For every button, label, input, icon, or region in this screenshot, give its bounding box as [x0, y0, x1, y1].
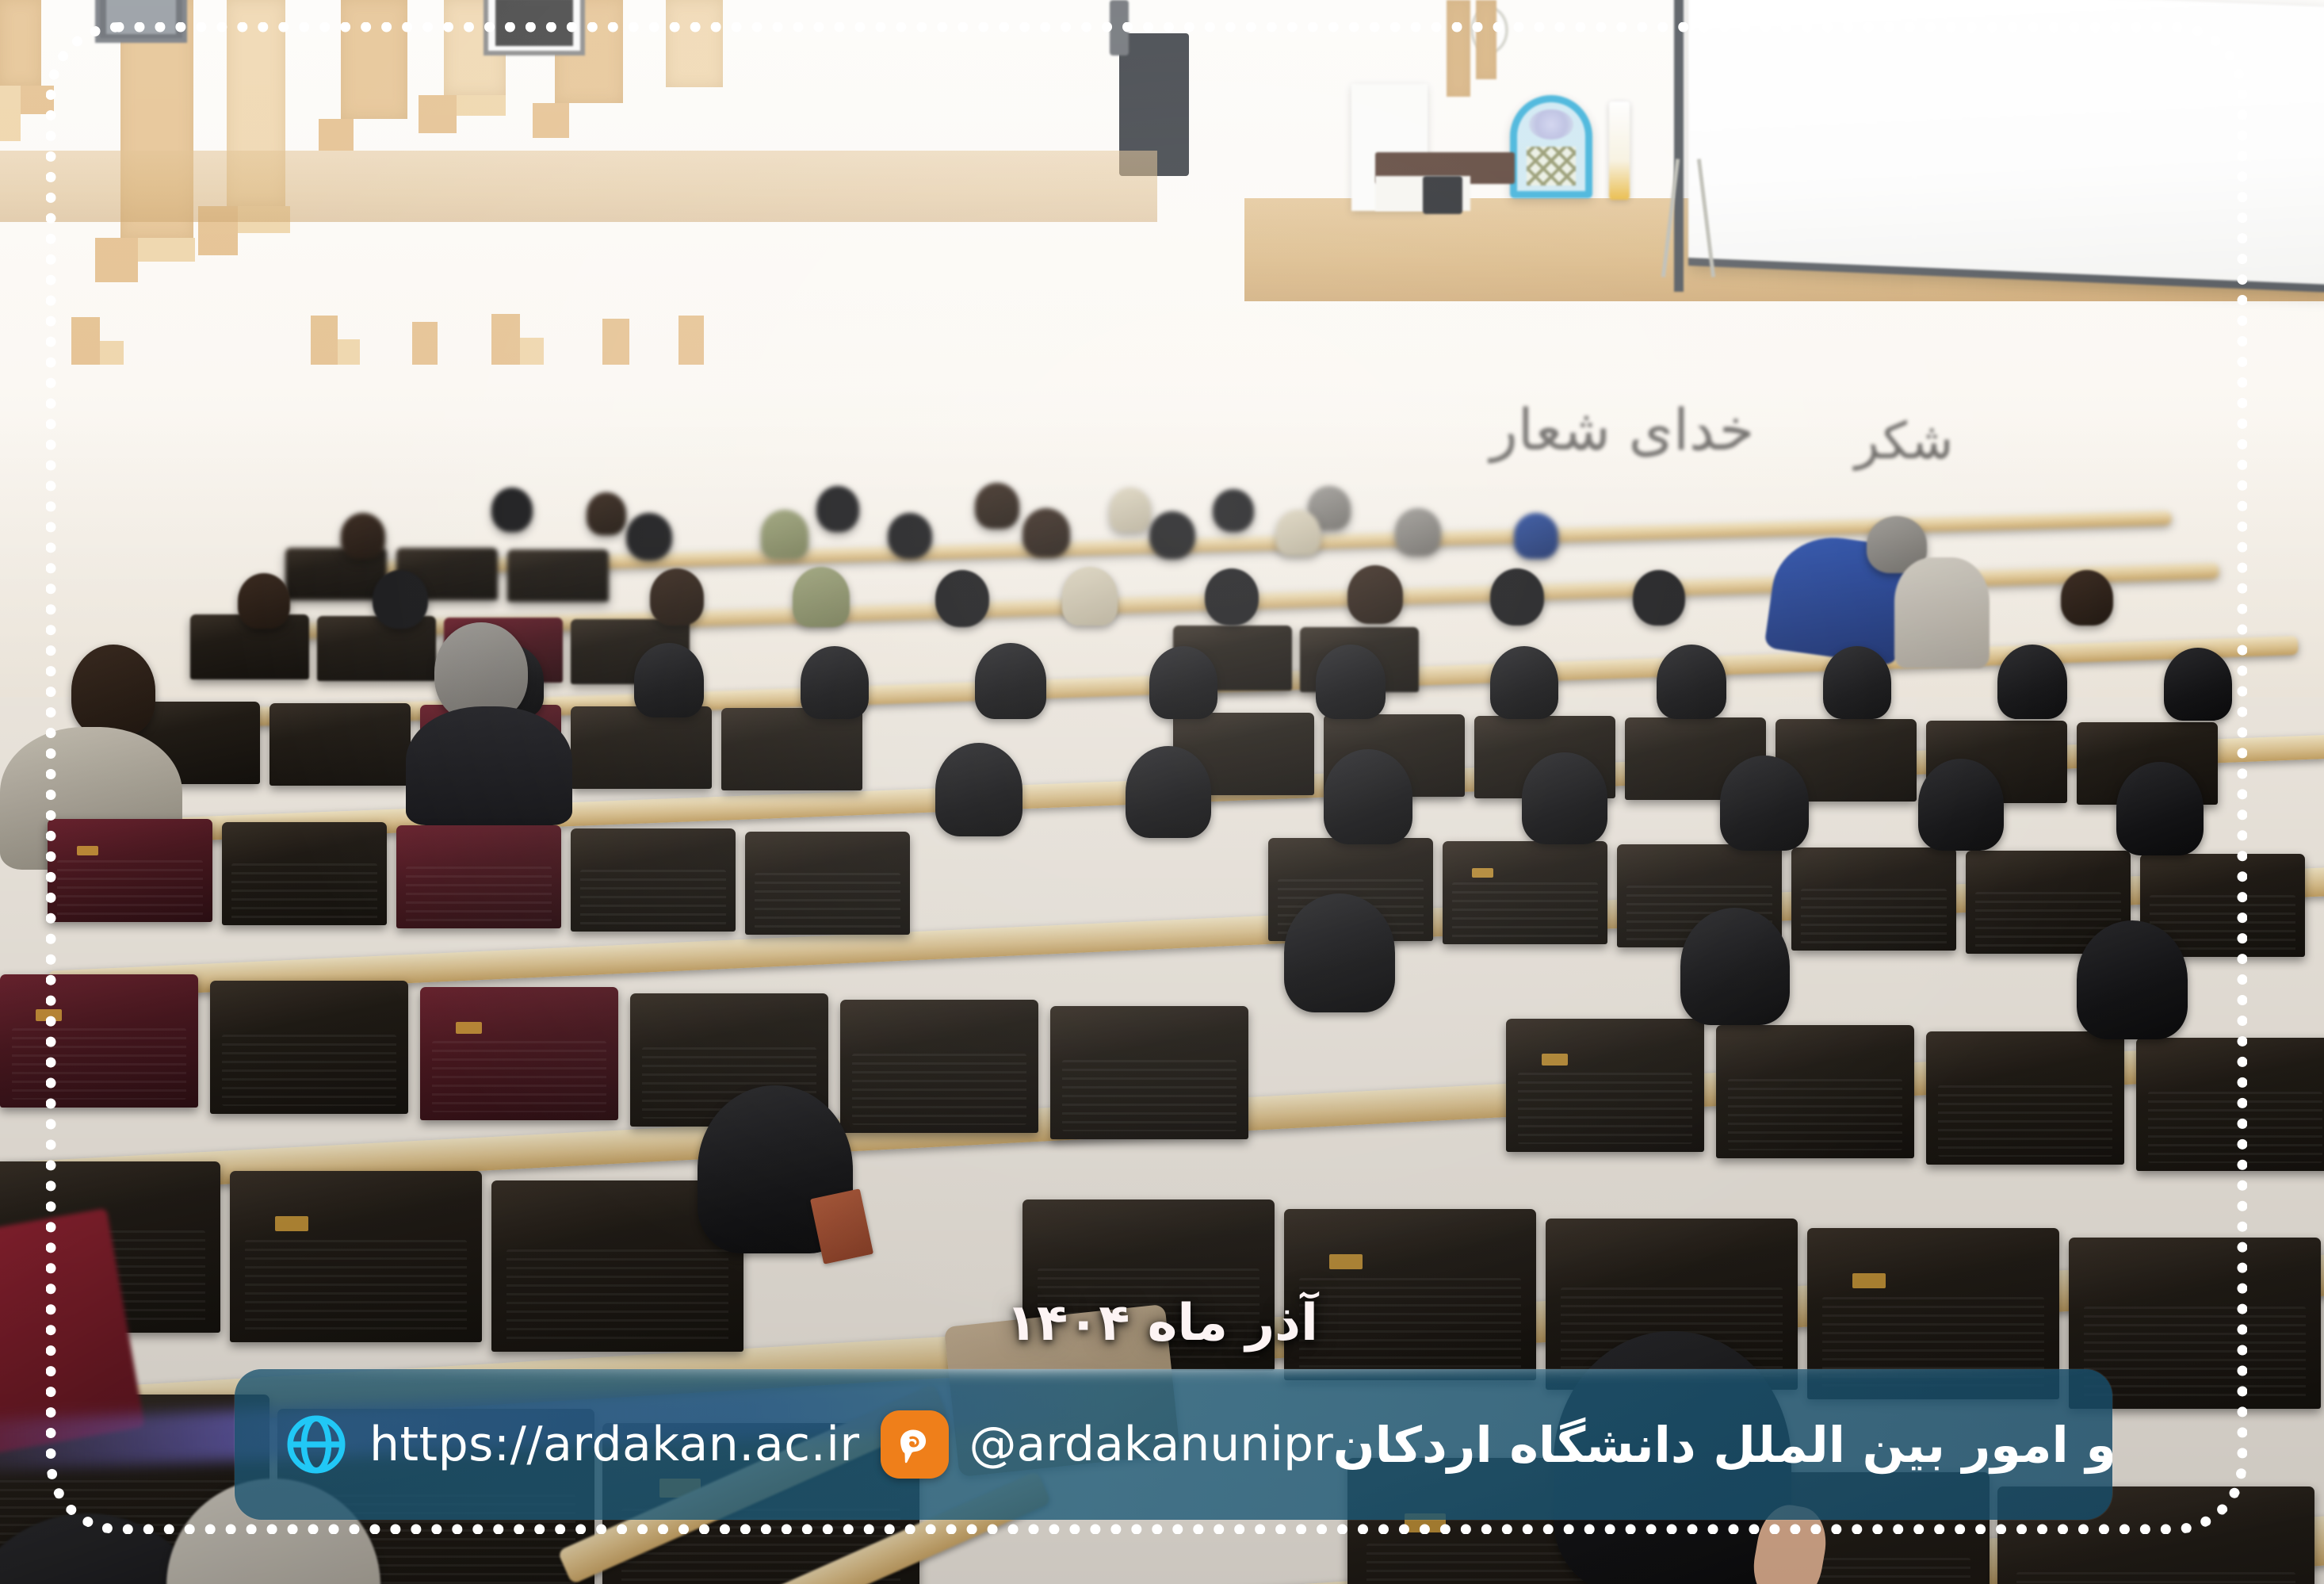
attendee-head — [1062, 567, 1118, 626]
attendee-head — [2077, 920, 2188, 1039]
banner-identity-group: دانشگاه اردکان روابط عمومی و امور بین ال… — [1333, 1376, 2112, 1513]
held-book — [810, 1189, 873, 1265]
seat — [269, 703, 411, 786]
attendee-head — [975, 483, 1019, 529]
wall-lower-step-9 — [678, 316, 704, 365]
wall-pillar-3 — [341, 0, 407, 119]
projection-screen — [1688, 0, 2324, 293]
seat — [721, 708, 862, 790]
wall-step-i — [457, 95, 506, 116]
attendee-head — [1324, 749, 1412, 844]
artwork-inner-2 — [106, 0, 175, 34]
seat — [840, 1000, 1038, 1133]
attendee-head — [1514, 513, 1558, 559]
seat-number-badge — [1472, 868, 1493, 878]
wall-dado-band-2 — [0, 151, 1157, 222]
seat — [210, 981, 408, 1114]
seat-slats — [1299, 1278, 1521, 1371]
attendee-head — [975, 643, 1046, 719]
seated-man-shoulders — [406, 706, 572, 825]
attendee-head — [1126, 746, 1211, 838]
banner-contact-group: https://ardakan.ac.ir @ardakanunipr — [235, 1410, 1333, 1479]
wall-panel-1 — [0, 0, 41, 86]
wall-lower-step-4 — [338, 339, 360, 365]
attendee-head — [1720, 756, 1809, 851]
seat-number-badge — [77, 846, 98, 855]
wall-artwork-2 — [95, 0, 187, 43]
attendee-head-left-edge — [71, 645, 155, 737]
attendee-head — [1205, 568, 1259, 626]
eitaa-handle-label[interactable]: @ardakanunipr — [969, 1417, 1333, 1472]
wall-lower-step-3 — [311, 316, 338, 365]
seat-slats — [580, 870, 725, 925]
attendee-head — [1490, 646, 1558, 719]
attendee-head — [1680, 908, 1790, 1025]
attendee-head — [587, 492, 626, 535]
wall-calligraphy-banner-2: شکر — [1855, 412, 1953, 471]
attendee-head — [341, 513, 385, 559]
standing-man-gray-shirt — [1894, 557, 1990, 668]
website-url-label[interactable]: https://ardakan.ac.ir — [369, 1417, 860, 1472]
event-photo-card: خدای شعار شکر — [0, 0, 2324, 1584]
attendee-head — [2116, 762, 2204, 855]
wall-slat-2 — [1476, 0, 1496, 79]
seat-slats — [506, 1249, 728, 1342]
seat-slats — [2148, 1092, 2322, 1164]
attendee-head — [1347, 565, 1403, 624]
attendee-head — [793, 567, 850, 627]
seat-slats — [852, 1054, 1026, 1126]
attendee-head — [2164, 648, 2232, 721]
seat-slats — [2016, 1572, 2295, 1584]
attendee-head — [935, 570, 989, 627]
attendee-head — [1022, 508, 1070, 557]
attendee-head — [634, 643, 704, 717]
arch-lattice — [1527, 147, 1576, 186]
attendee-head — [1997, 645, 2067, 719]
seat-slats — [245, 1240, 467, 1333]
seat-slats — [1938, 1085, 2112, 1157]
attendee-head — [1633, 570, 1685, 626]
seat — [222, 822, 387, 925]
wall-lower-step-2 — [100, 341, 124, 365]
seat-slats — [1062, 1060, 1237, 1132]
wall-step-d — [138, 238, 195, 262]
seat — [2136, 1038, 2324, 1171]
seat — [420, 987, 618, 1120]
attendee-head — [1316, 645, 1386, 719]
attendee-head — [1149, 646, 1217, 719]
wall-artwork — [484, 0, 585, 55]
seat — [571, 828, 736, 932]
projection-screen-rod — [1674, 0, 1684, 292]
seat-slats — [406, 867, 551, 922]
attendee-head — [935, 743, 1022, 836]
seat — [1791, 847, 1956, 951]
attendee-head — [761, 510, 808, 559]
seat-number-badge — [1852, 1273, 1885, 1288]
decorative-arch-stand — [1510, 95, 1592, 198]
attendee-head — [650, 568, 704, 626]
attendee-head — [816, 486, 859, 532]
attendee-head — [1657, 645, 1726, 719]
seat-number-badge — [1329, 1254, 1362, 1269]
seat — [1506, 1019, 1704, 1152]
stage-chair — [1423, 176, 1462, 214]
attendee-head — [1490, 568, 1544, 626]
attendee-head — [1284, 893, 1395, 1012]
department-label: روابط عمومی و امور بین الملل دانشگاه ارد… — [1333, 1416, 2112, 1474]
seat — [48, 819, 212, 922]
seat — [1443, 841, 1607, 944]
wall-step-g — [319, 119, 354, 151]
attendee-head — [373, 570, 428, 629]
auditorium-photograph: خدای شعار شکر — [0, 0, 2324, 1584]
seat — [0, 974, 198, 1108]
seat-slats — [1518, 1073, 1692, 1145]
seat — [1284, 1209, 1536, 1380]
wall-step-a — [0, 86, 21, 141]
wall-step-h — [419, 95, 457, 133]
attendee-head — [1823, 646, 1891, 719]
seat — [1926, 1031, 2124, 1165]
arch-rosette — [1529, 109, 1573, 140]
attendee-head — [888, 513, 932, 559]
seat-slats — [1728, 1079, 1902, 1151]
attendee-head — [801, 646, 869, 719]
attendee-head — [626, 513, 672, 561]
standing-flag — [1609, 101, 1630, 200]
attendee-head — [1213, 489, 1254, 532]
seat-number-badge — [36, 1009, 62, 1021]
seat-slats — [1452, 882, 1597, 938]
attendee-head — [2061, 570, 2113, 626]
seat — [1050, 1006, 1248, 1139]
seat-slats — [231, 863, 377, 919]
eitaa-icon[interactable] — [881, 1410, 949, 1479]
wall-lower-step-7 — [520, 338, 544, 365]
attendee-head — [1110, 488, 1151, 532]
wall-calligraphy-banner: خدای شعار — [1490, 396, 1754, 463]
wall-lower-step-8 — [602, 319, 629, 365]
wall-pillar-6 — [666, 0, 723, 87]
attendee-head — [238, 573, 290, 629]
attendee-head — [1522, 752, 1607, 844]
seat-slats — [432, 1041, 606, 1113]
seat — [507, 549, 609, 602]
attendee-head — [1276, 510, 1321, 556]
seat — [230, 1171, 482, 1342]
seat — [396, 825, 561, 928]
artwork-inner — [495, 0, 572, 46]
seat — [571, 706, 712, 789]
wall-lower-step-6 — [491, 314, 520, 365]
seat-slats — [12, 1028, 186, 1100]
attendee-head — [1395, 508, 1441, 556]
wall-step-c — [95, 238, 138, 282]
wall-lower-step-1 — [71, 317, 100, 365]
attendee-head — [491, 488, 533, 532]
footer-contact-banner: https://ardakan.ac.ir @ardakanunipr — [235, 1369, 2112, 1520]
wall-slat-1 — [1447, 0, 1470, 97]
attendee-head — [1918, 759, 2004, 851]
seat-slats — [1801, 889, 1946, 944]
attendee-head — [1149, 511, 1195, 559]
seat-number-badge — [275, 1216, 308, 1231]
wall-step-j — [533, 103, 569, 138]
seat-slats — [57, 860, 202, 916]
seat — [317, 616, 436, 681]
seat-slats — [2084, 1307, 2306, 1399]
seat-slats — [222, 1035, 396, 1107]
seat-number-badge — [456, 1022, 482, 1034]
seat-number-badge — [1542, 1054, 1568, 1066]
wall-step-b — [21, 86, 54, 114]
seat-slats — [755, 873, 900, 928]
globe-icon — [284, 1412, 349, 1477]
seat — [1716, 1025, 1914, 1158]
seat — [745, 832, 910, 935]
speaker-bracket — [1110, 0, 1129, 55]
wall-lower-step-5 — [412, 322, 438, 365]
